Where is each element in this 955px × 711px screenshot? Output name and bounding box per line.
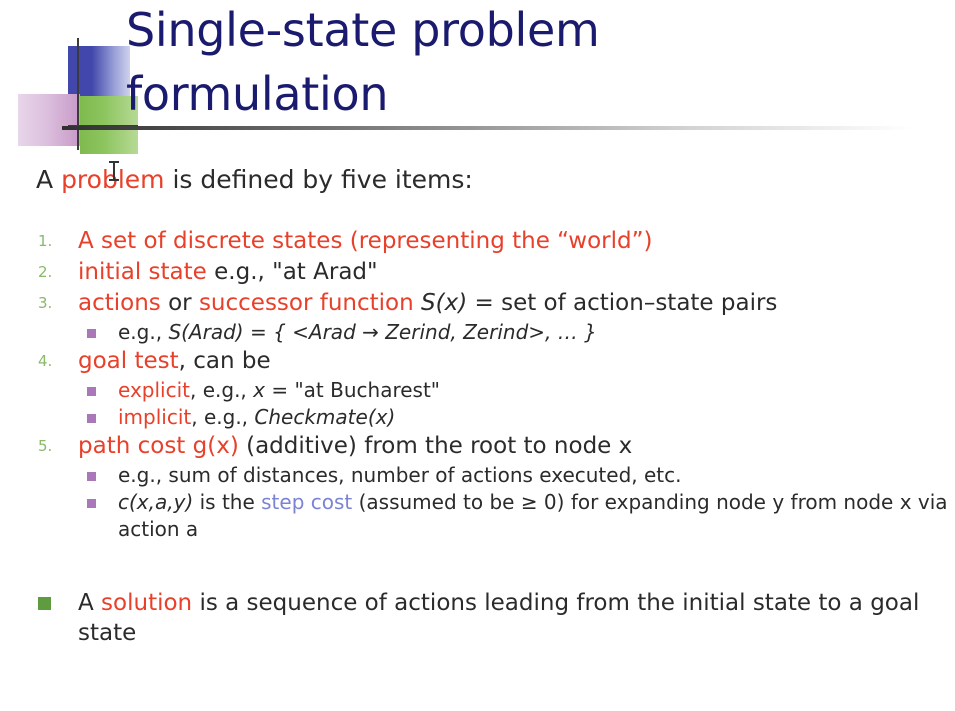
item-2-run-4: S(x) — [421, 290, 467, 316]
sub-list-item: e.g., S(Arad) = { <Arad → Zerind, Zerind… — [0, 319, 955, 346]
sub-list-item-text: e.g., S(Arad) = { <Arad → Zerind, Zerind… — [118, 320, 597, 344]
list-item-text: initial state e.g., "at Arad" — [78, 259, 378, 285]
item-4-run-0: path cost g(x) — [78, 433, 239, 459]
final-run-0: A — [78, 590, 101, 616]
list-item-text: actions or successor function S(x) = set… — [78, 290, 777, 316]
list-item-number: 5. — [38, 437, 66, 455]
item-3-sub-0-run-1: , e.g., — [190, 378, 253, 402]
list-item: 5.path cost g(x) (additive) from the roo… — [0, 431, 955, 462]
list-item-number: 2. — [38, 263, 66, 281]
title-divider — [62, 126, 912, 130]
item-2-run-5: = set of action–state pairs — [467, 290, 777, 316]
sub-list-item: explicit, e.g., x = "at Bucharest" — [0, 377, 955, 404]
list-item-text: goal test, can be — [78, 348, 271, 374]
final-bullet: A solution is a sequence of actions lead… — [0, 588, 955, 648]
lead-suffix: is defined by five items: — [165, 165, 473, 194]
sub-list-item-text: implicit, e.g., Checkmate(x) — [118, 405, 395, 429]
item-2-run-2: successor function — [199, 290, 414, 316]
sub-list-item: c(x,a,y) is the step cost (assumed to be… — [0, 489, 955, 543]
logo-pink-square — [18, 94, 80, 146]
list-item-text: A set of discrete states (representing t… — [78, 228, 653, 254]
sub-list-item-text: e.g., sum of distances, number of action… — [118, 463, 681, 487]
sub-list-item-text: c(x,a,y) is the step cost (assumed to be… — [118, 490, 948, 541]
square-bullet-icon — [87, 387, 96, 396]
lead-sentence: A problem is defined by five items: — [36, 164, 473, 196]
final-run-1: solution — [101, 590, 192, 616]
item-3-sub-0-run-2: x — [253, 378, 265, 402]
lead-emphasis: problem — [61, 165, 164, 194]
item-1-run-0: initial state — [78, 259, 207, 285]
list-item-number: 4. — [38, 352, 66, 370]
item-4-run-1: (additive) from the root to node x — [239, 433, 632, 459]
final-bullet-text: A solution is a sequence of actions lead… — [78, 590, 919, 646]
numbered-list: 1.A set of discrete states (representing… — [0, 226, 955, 543]
item-1-run-1: e.g., "at Arad" — [207, 259, 378, 285]
item-2-run-3 — [414, 290, 421, 316]
decorative-logo — [8, 38, 138, 150]
lead-prefix: A — [36, 165, 61, 194]
item-0-run-0: A set of discrete states (representing t… — [78, 228, 653, 254]
sub-list-item: e.g., sum of distances, number of action… — [0, 462, 955, 489]
sub-list-item: implicit, e.g., Checkmate(x) — [0, 404, 955, 431]
page-title: Single-state problem formulation — [126, 0, 926, 126]
item-3-sub-0-run-3: = "at Bucharest" — [265, 378, 440, 402]
logo-vertical-line — [77, 38, 79, 150]
final-run-2: is a sequence of actions leading from th… — [78, 590, 919, 646]
list-item: 2.initial state e.g., "at Arad" — [0, 257, 955, 288]
item-4-sub-1-run-0: c(x,a,y) — [118, 490, 193, 514]
item-2-run-0: actions — [78, 290, 161, 316]
square-bullet-icon — [38, 597, 51, 610]
item-3-sub-1-run-2: Checkmate(x) — [254, 405, 395, 429]
item-3-run-0: goal test — [78, 348, 179, 374]
square-bullet-icon — [87, 414, 96, 423]
list-item-text: path cost g(x) (additive) from the root … — [78, 433, 632, 459]
slide-header: Single-state problem formulation — [0, 0, 955, 148]
item-2-sub-0-run-0: e.g., — [118, 320, 168, 344]
square-bullet-icon — [87, 329, 96, 338]
list-item: 1.A set of discrete states (representing… — [0, 226, 955, 257]
item-4-sub-0-run-0: e.g., sum of distances, number of action… — [118, 463, 681, 487]
item-3-sub-1-run-1: , e.g., — [191, 405, 254, 429]
item-4-sub-1-run-2: step cost — [261, 490, 352, 514]
item-4-sub-1-run-1: is the — [193, 490, 261, 514]
square-bullet-icon — [87, 499, 96, 508]
list-item: 4.goal test, can be — [0, 346, 955, 377]
item-3-sub-0-run-0: explicit — [118, 378, 190, 402]
item-2-run-1: or — [161, 290, 199, 316]
square-bullet-icon — [87, 472, 96, 481]
list-item: 3.actions or successor function S(x) = s… — [0, 288, 955, 319]
item-2-sub-0-run-1: S(Arad) = { <Arad → Zerind, Zerind>, … } — [168, 320, 596, 344]
item-3-run-1: , can be — [179, 348, 271, 374]
list-item-number: 3. — [38, 294, 66, 312]
sub-list-item-text: explicit, e.g., x = "at Bucharest" — [118, 378, 440, 402]
list-item-number: 1. — [38, 232, 66, 250]
item-3-sub-1-run-0: implicit — [118, 405, 191, 429]
